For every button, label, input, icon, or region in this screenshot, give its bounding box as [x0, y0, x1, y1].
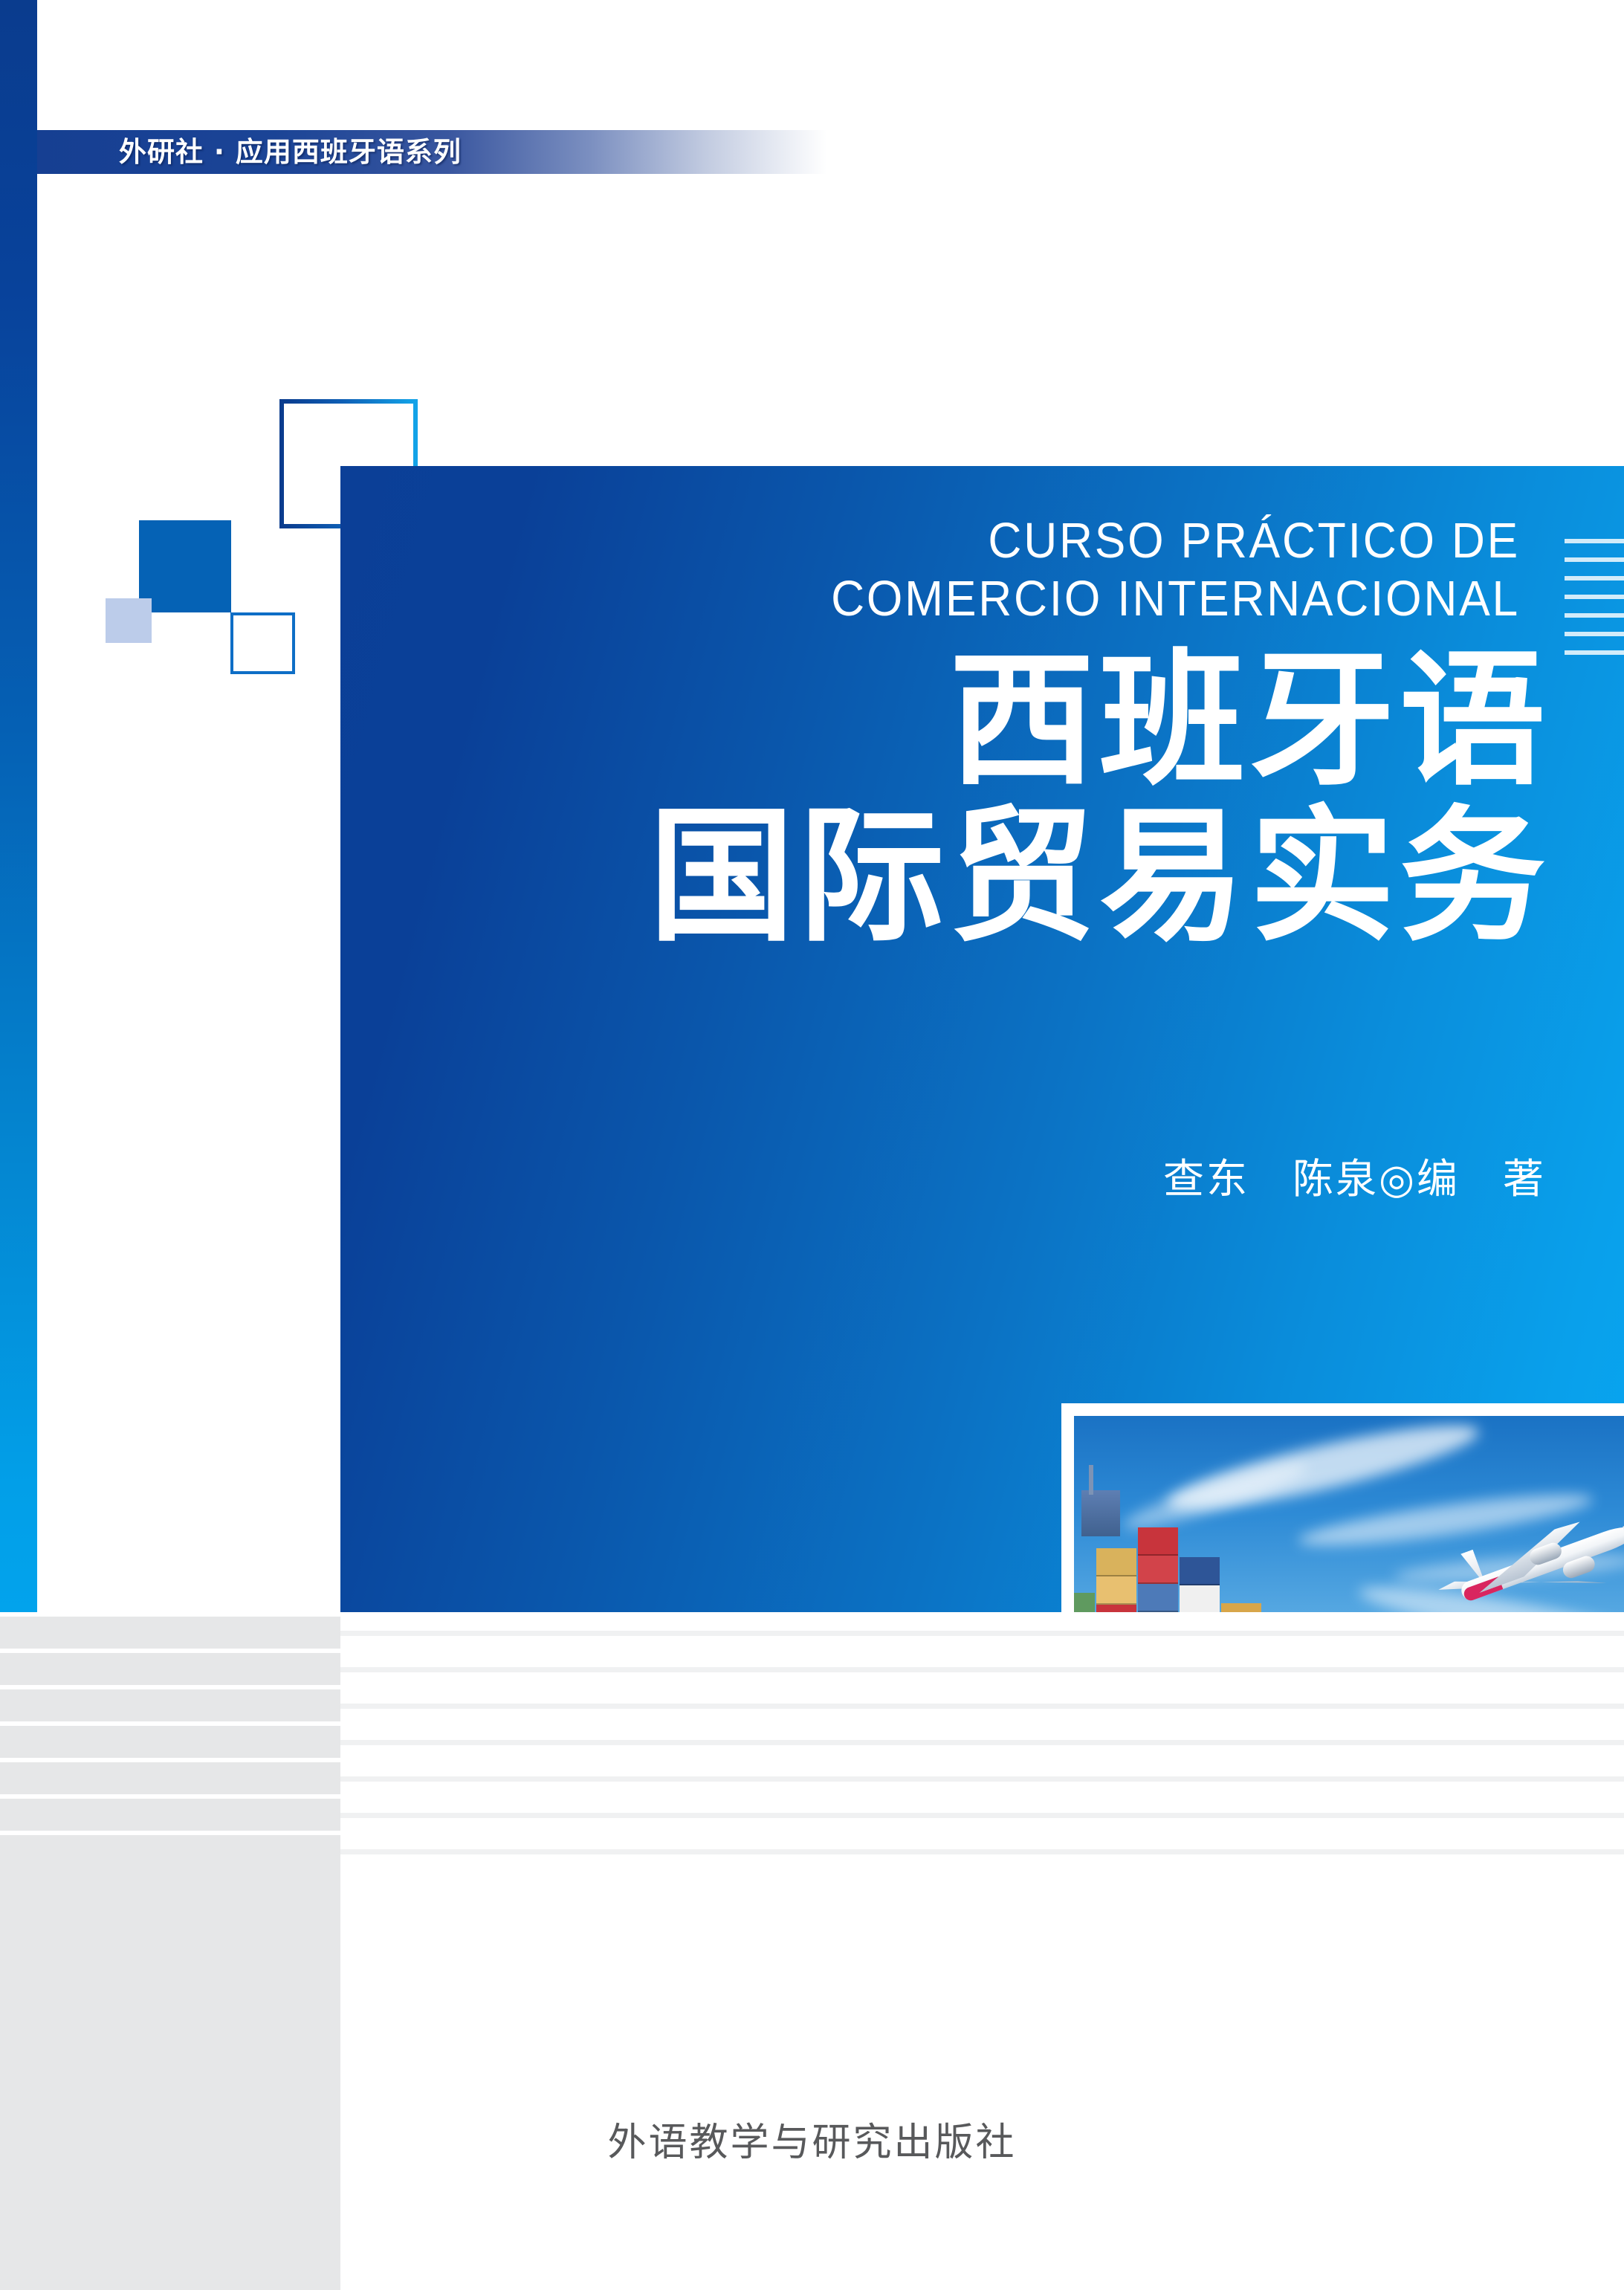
decorative-square-filled [139, 520, 231, 612]
band-stripe [340, 1776, 1624, 1782]
page-title-line-2: 国际贸易实务 [649, 799, 1550, 955]
band-stripe [340, 1631, 1624, 1636]
band-stripe [340, 1667, 1624, 1672]
band-gap [0, 1794, 340, 1799]
spanish-subtitle-line-2: COMERCIO INTERNACIONAL [649, 570, 1520, 628]
band-gap [0, 1831, 340, 1835]
decorative-rule [1565, 557, 1624, 562]
band-gap [0, 1612, 340, 1617]
page-title: 西班牙语 国际贸易实务 [649, 643, 1550, 955]
decorative-square-lavender [106, 598, 152, 643]
band-gap [0, 1649, 340, 1653]
band-gap [0, 1685, 340, 1689]
decorative-rule [1565, 632, 1624, 636]
band-stripe [340, 1849, 1624, 1854]
author-line: 查东 陈泉◎编 著 [1163, 1145, 1546, 1205]
band-stripe [340, 1740, 1624, 1745]
bottom-grey-panel [0, 1612, 340, 2290]
band-gap [0, 1721, 340, 1726]
decorative-rule [1565, 576, 1624, 580]
decorative-rule [1565, 595, 1624, 599]
decorative-rule [1565, 650, 1624, 655]
spine-gradient-bar [0, 0, 37, 1612]
book-cover: 外研社 · 应用西班牙语系列 CURSO PRÁCTICO DE COMERCI… [0, 0, 1624, 2290]
series-banner-label: 外研社 · 应用西班牙语系列 [119, 132, 462, 172]
bottom-white-panel [340, 1612, 1624, 2290]
band-stripe [340, 1704, 1624, 1709]
decorative-rule [1565, 539, 1624, 543]
publisher-name: 外语教学与研究出版社 [0, 2111, 1624, 2167]
band-stripe [340, 1813, 1624, 1818]
spanish-subtitle: CURSO PRÁCTICO DE COMERCIO INTERNACIONAL [649, 512, 1520, 628]
ship-mast [1089, 1465, 1093, 1495]
page-title-line-1: 西班牙语 [649, 643, 1550, 799]
bottom-decorative-band [0, 1612, 1624, 2290]
spanish-subtitle-line-1: CURSO PRÁCTICO DE [649, 512, 1520, 570]
decorative-rule [1565, 613, 1624, 618]
band-gap [0, 1758, 340, 1762]
decorative-square-outline-small [230, 612, 295, 674]
ship-superstructure [1081, 1490, 1120, 1536]
decorative-rule-stack [1565, 539, 1624, 669]
